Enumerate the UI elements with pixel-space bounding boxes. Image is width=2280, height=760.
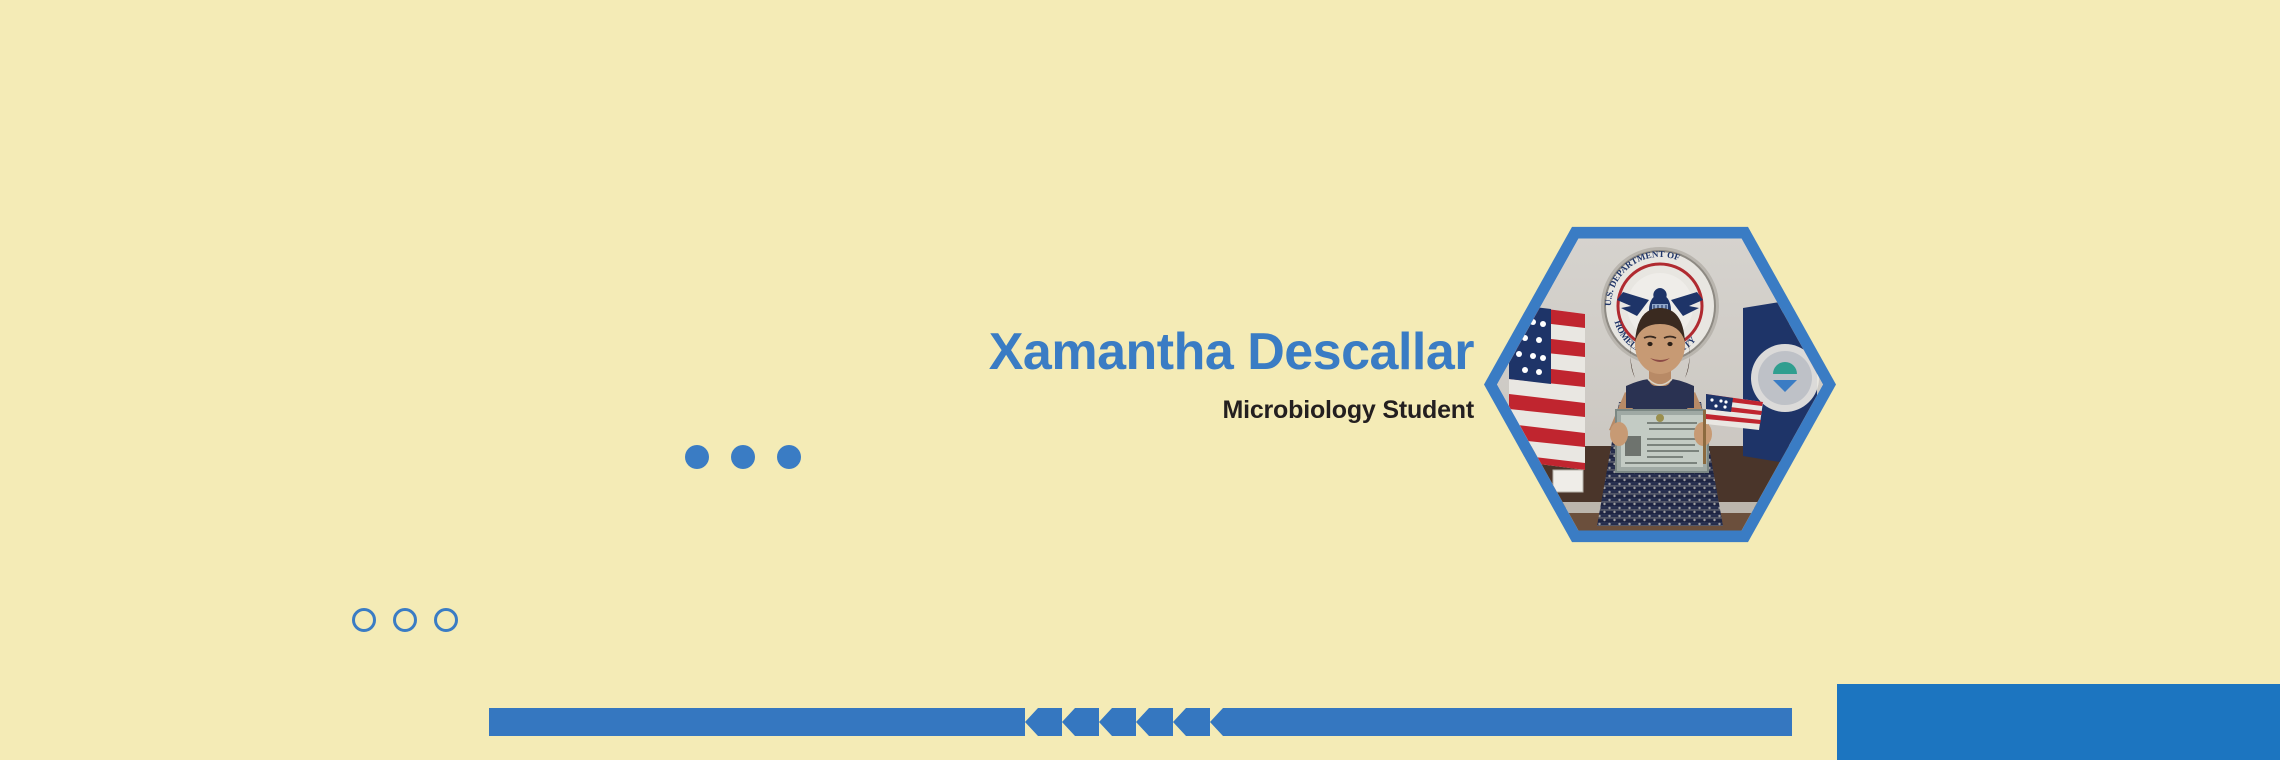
dot-filled-icon [685,445,709,469]
dot-filled-icon [731,445,755,469]
page-title: Xamantha Descallar [0,325,1474,380]
chevron-icon [1136,708,1173,736]
avatar: U.S. DEPARTMENT OF HOMELAND SECURITY [1484,222,1836,547]
filled-dots-decoration [685,445,801,469]
circle-outline-icon [434,608,458,632]
chevron-icon [1025,708,1062,736]
chevron-icon [1210,708,1247,736]
chevron-icon [1099,708,1136,736]
circle-outline-icon [352,608,376,632]
chevron-icon [1173,708,1210,736]
person-role: Microbiology Student [0,396,1474,425]
chevron-pattern [1025,708,1247,736]
profile-banner: Xamantha Descallar Microbiology Student [0,0,2280,760]
bottom-right-color-block [1837,684,2280,760]
outline-circles-decoration [352,608,458,632]
person-text-group: Xamantha Descallar Microbiology Student [0,325,1474,425]
certificate [1616,410,1708,472]
decorative-bottom-bar [489,708,1792,736]
circle-outline-icon [393,608,417,632]
chevron-icon [1062,708,1099,736]
dot-filled-icon [777,445,801,469]
